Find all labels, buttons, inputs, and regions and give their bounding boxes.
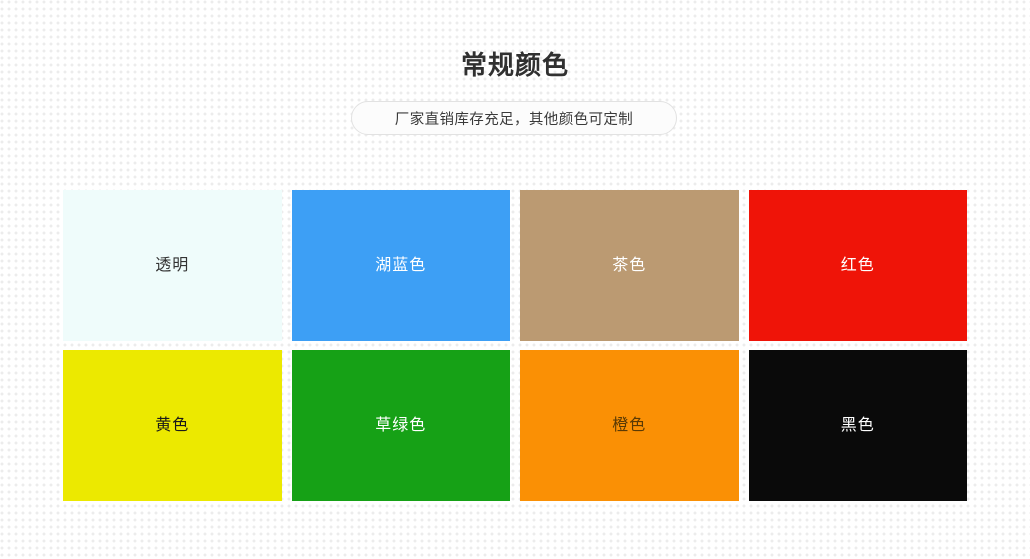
- color-swatch-label: 草绿色: [375, 416, 426, 436]
- color-swatch-label: 湖蓝色: [375, 256, 426, 276]
- color-swatch-grid: 透明 湖蓝色 茶色 红色 黄色 草绿色 橙色 黑色: [63, 190, 967, 501]
- subtitle-badge: 厂家直销库存充足，其他颜色可定制: [351, 101, 677, 135]
- color-swatch[interactable]: 茶色: [520, 190, 739, 341]
- color-swatch[interactable]: 橙色: [520, 350, 739, 501]
- color-swatch[interactable]: 红色: [749, 190, 968, 341]
- color-swatch-label: 黄色: [155, 416, 189, 436]
- subtitle-badge-label: 厂家直销库存充足，其他颜色可定制: [395, 108, 633, 129]
- color-swatch[interactable]: 透明: [63, 190, 282, 341]
- page-title: 常规颜色: [0, 48, 1030, 82]
- color-swatch-label: 茶色: [612, 256, 646, 276]
- color-swatch[interactable]: 黄色: [63, 350, 282, 501]
- color-showcase-page: 常规颜色 厂家直销库存充足，其他颜色可定制 透明 湖蓝色 茶色 红色 黄色 草绿…: [0, 0, 1030, 559]
- color-swatch-label: 透明: [155, 256, 189, 276]
- color-swatch[interactable]: 黑色: [749, 350, 968, 501]
- color-swatch[interactable]: 湖蓝色: [292, 190, 511, 341]
- color-swatch-label: 红色: [841, 256, 875, 276]
- color-swatch-label: 橙色: [612, 416, 646, 436]
- color-swatch-label: 黑色: [841, 416, 875, 436]
- color-swatch[interactable]: 草绿色: [292, 350, 511, 501]
